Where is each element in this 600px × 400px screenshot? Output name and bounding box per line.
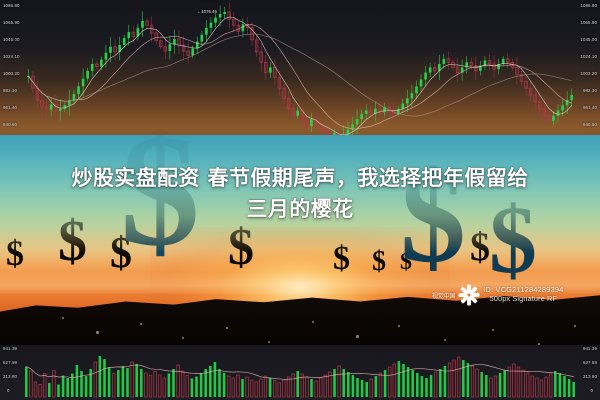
price-axis-label-right-0: 1086.80 — [580, 4, 597, 8]
headline-line-1: 炒股实盘配资 春节假期尾声，我选择把年假留给 — [18, 163, 582, 194]
volume-axis-label-left-0: 941.39 — [3, 347, 17, 351]
price-axis-label-left-0: 1086.80 — [3, 4, 20, 8]
light-speck — [398, 325, 400, 327]
volume-axis-label-left-2: 313.80 — [3, 375, 17, 379]
price-axis-label-right-4: 1003.20 — [580, 72, 597, 76]
price-axis-label-left-6: 961.40 — [3, 106, 17, 110]
watermark-license: 500px Signature RF — [483, 295, 563, 304]
price-peak-annotation: ←1076.45 — [197, 10, 217, 14]
price-axis-label-right-3: 1024.10 — [580, 55, 597, 59]
dollar-silhouette-6: $ — [372, 251, 386, 274]
moving-average-lines — [28, 17, 571, 135]
candlestick-series — [27, 3, 573, 148]
light-speck — [312, 321, 314, 323]
price-axis-label-right-7: 940.50 — [583, 123, 597, 127]
volume-axis-label-left-1: 627.59 — [3, 361, 17, 365]
light-speck — [574, 325, 576, 327]
volume-bar-series — [25, 356, 575, 397]
screenshot-root: 1086.80 1065.90 1045.00 1024.10 1003.20 … — [0, 0, 600, 400]
price-axis-label-left-2: 1045.00 — [3, 38, 20, 42]
volume-chart-svg — [0, 345, 600, 400]
volume-axis-label-left-3: 0 — [7, 389, 10, 393]
sunburst-icon — [458, 284, 480, 306]
price-axis-label-right-5: 982.30 — [583, 89, 597, 93]
light-speck — [356, 335, 359, 338]
volume-axis-label-right-3: 0 — [590, 389, 593, 393]
volume-axis-label-right-2: 313.80 — [583, 375, 597, 379]
price-axis-label-left-5: 982.30 — [3, 89, 17, 93]
headline-overlay: 炒股实盘配资 春节假期尾声，我选择把年假留给 三月的樱花 — [0, 163, 600, 225]
light-speck — [226, 327, 228, 329]
volume-axis-label-right-1: 627.59 — [583, 361, 597, 365]
price-axis-label-right-2: 1045.00 — [580, 38, 597, 42]
watermark-brand-cn: 视觉中国 — [432, 291, 455, 300]
price-axis-label-left-4: 1003.20 — [3, 72, 20, 76]
headline-line-2: 三月的樱花 — [18, 194, 582, 225]
watermark: 视觉中国 ID: VCG211284289394 500px Signature… — [432, 284, 564, 306]
watermark-text: ID: VCG211284289394 500px Signature RF — [483, 286, 563, 304]
light-speck — [96, 331, 99, 334]
price-chart-panel: 1086.80 1065.90 1045.00 1024.10 1003.20 … — [0, 0, 600, 155]
light-speck — [62, 317, 64, 319]
price-axis-label-left-1: 1065.90 — [3, 21, 20, 25]
light-speck — [492, 329, 494, 331]
volume-axis-label-right-0: 941.39 — [583, 347, 597, 351]
price-axis-label-right-1: 1065.90 — [580, 21, 597, 25]
volume-chart-panel: 941.39 627.59 313.80 0 941.39 627.59 313… — [0, 345, 600, 400]
price-axis-label-right-6: 961.40 — [583, 106, 597, 110]
price-axis-label-left-3: 1024.10 — [3, 55, 20, 59]
price-axis-label-left-7: 940.50 — [3, 123, 17, 127]
light-speck — [140, 323, 142, 325]
price-chart-svg — [0, 0, 600, 155]
